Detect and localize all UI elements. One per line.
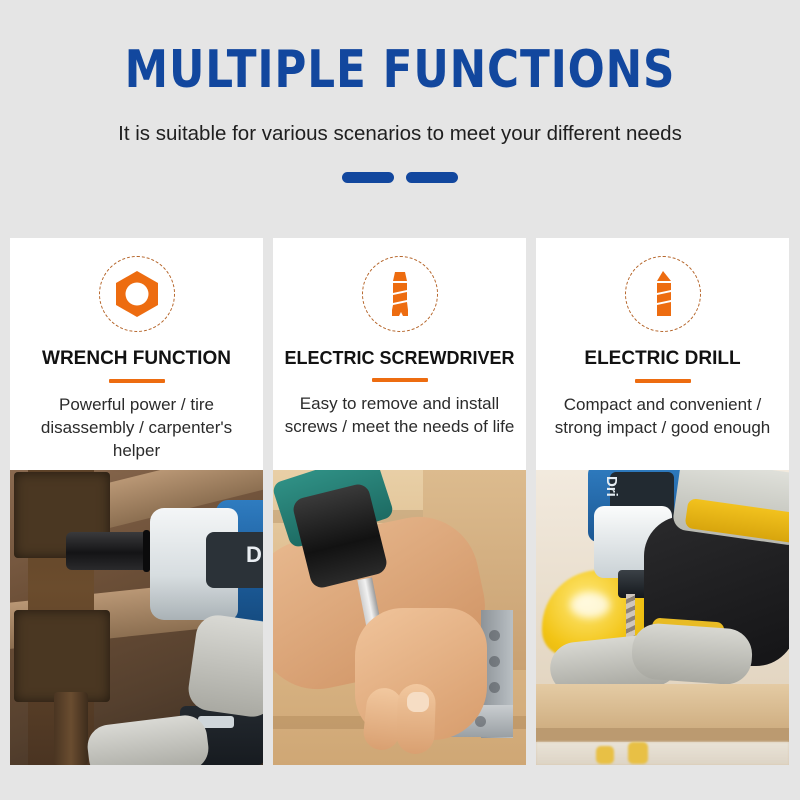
feature-card-screwdriver[interactable]: ELECTRIC SCREWDRIVER Easy to remove and … [273, 238, 526, 765]
promo-page: MULTIPLE FUNCTIONS It is suitable for va… [0, 0, 800, 800]
feature-card-wrench[interactable]: WRENCH FUNCTION Powerful power / tire di… [10, 238, 263, 765]
page-subtitle: It is suitable for various scenarios to … [0, 122, 800, 146]
tool-brand-text: Dr [246, 542, 263, 568]
card-title: ELECTRIC SCREWDRIVER [284, 348, 514, 369]
screw-bit-icon [362, 256, 438, 332]
tool-brand-text: Dri [603, 476, 620, 497]
card-photo-drill: Dri [536, 470, 789, 765]
page-title: MULTIPLE FUNCTIONS [64, 44, 736, 96]
card-content: WRENCH FUNCTION Powerful power / tire di… [10, 238, 263, 470]
drill-bit-icon [625, 256, 701, 332]
card-content: ELECTRIC SCREWDRIVER Easy to remove and … [273, 238, 526, 470]
title-underline [109, 379, 165, 383]
card-photo-screwdriver [273, 470, 526, 765]
card-title: ELECTRIC DRILL [584, 348, 740, 370]
card-title: WRENCH FUNCTION [42, 348, 231, 370]
card-description: Easy to remove and install screws / meet… [283, 393, 516, 439]
card-photo-wrench: Dr [10, 470, 263, 765]
divider-dash-1 [342, 172, 394, 183]
card-content: ELECTRIC DRILL Compact and convenient / … [536, 238, 789, 470]
card-description: Powerful power / tire disassembly / carp… [20, 394, 253, 463]
feature-card-list: WRENCH FUNCTION Powerful power / tire di… [10, 238, 790, 765]
title-underline [372, 378, 428, 382]
page-header: MULTIPLE FUNCTIONS It is suitable for va… [0, 0, 800, 183]
hex-nut-icon [99, 256, 175, 332]
divider-dash-2 [406, 172, 458, 183]
divider-dashes [0, 172, 800, 183]
card-description: Compact and convenient / strong impact /… [546, 394, 779, 440]
feature-card-drill[interactable]: ELECTRIC DRILL Compact and convenient / … [536, 238, 789, 765]
title-underline [635, 379, 691, 383]
